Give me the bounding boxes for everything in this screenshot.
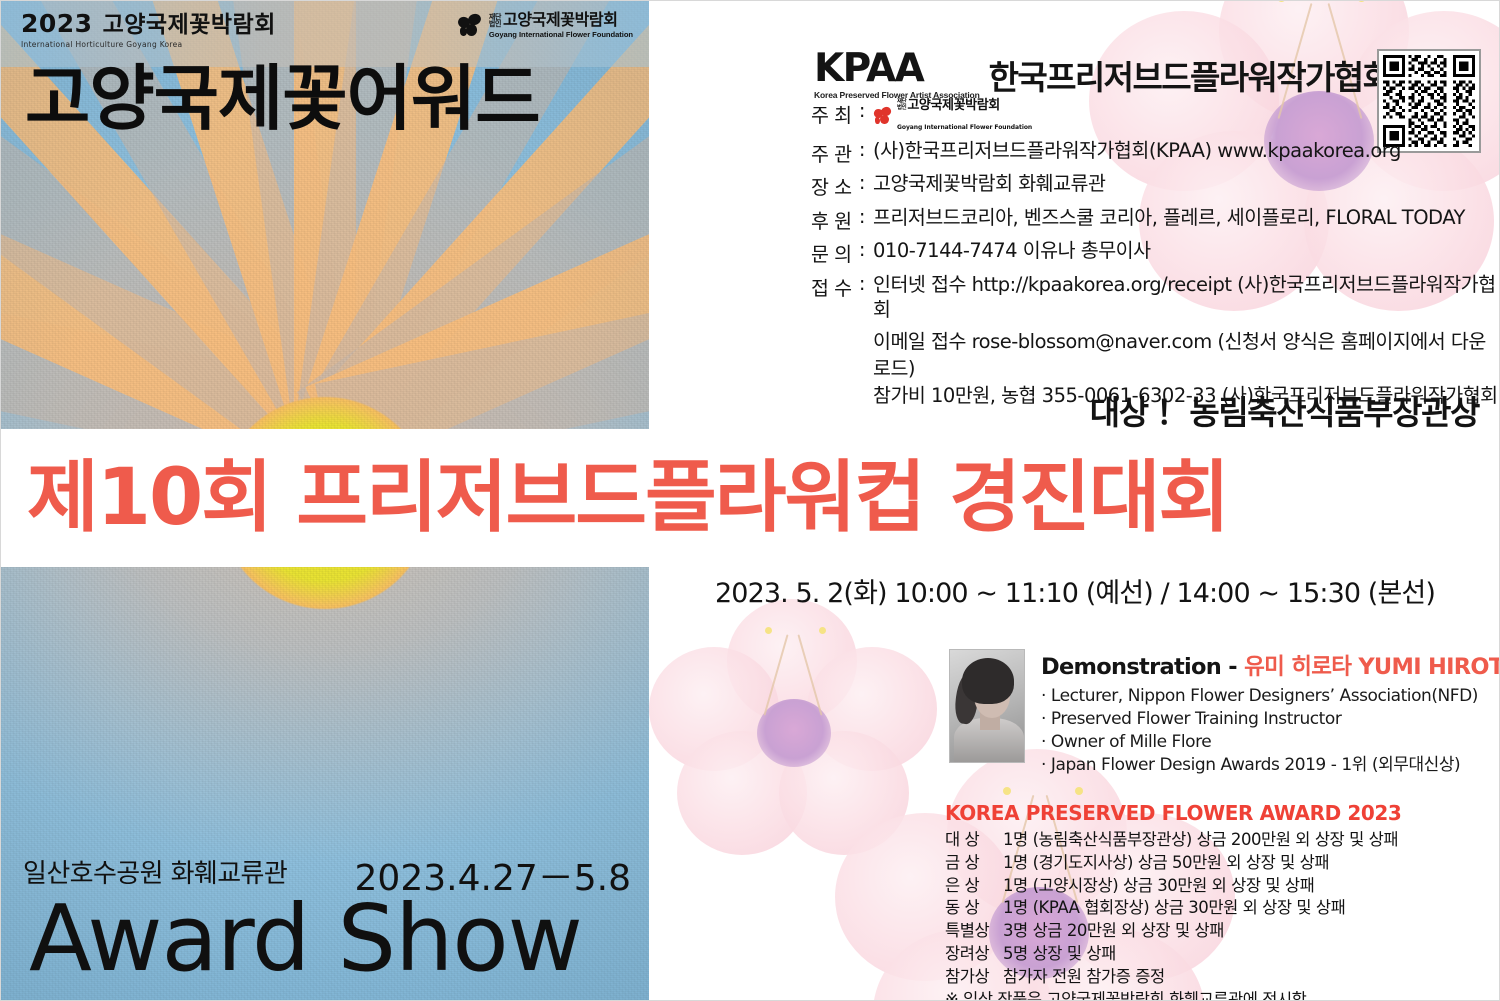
award-row: 대 상 1명 (농림축산식품부장관상) 상금 200만원 외 상장 및 상패 — [945, 829, 1500, 852]
expo-title-line: 2023 고양국제꽃박람회 — [21, 11, 276, 37]
info-label: 장 소 — [811, 171, 873, 200]
award-rank: 장려상 — [945, 943, 1003, 966]
foundation-name-ko-row: 재단 법인 고양국제꽃박람회 — [489, 13, 633, 30]
demonstrator-bullet: · Owner of Mille Flore — [1041, 731, 1500, 754]
expo-year: 2023 — [21, 11, 93, 36]
info-row-sponsor: 후 원 프리저브드코리아, 벤즈스쿨 코리아, 플레르, 세이플로리, FLOR… — [811, 205, 1500, 234]
award-row: 참가상 참가자 전원 참가증 증정 — [945, 966, 1500, 989]
foundation-name-ko: 고양국제꽃박람회 — [503, 13, 618, 30]
award-detail: 참가자 전원 참가증 증정 — [1003, 966, 1500, 989]
award-rank: 특별상 — [945, 920, 1003, 943]
award-row: 금 상 1명 (경기도지사상) 상금 50만원 외 상장 및 상패 — [945, 852, 1500, 875]
award-rank: 은 상 — [945, 875, 1003, 898]
demonstration-label: Demonstration — [1041, 654, 1221, 680]
competition-title: 제10회 프리저브드플라워컵 경진대회 — [27, 459, 1228, 537]
info-row-location: 장 소 고양국제꽃박람회 화훼교류관 — [811, 171, 1500, 200]
event-schedule: 2023. 5. 2(화) 10:00 ~ 11:10 (예선) / 14:00… — [649, 571, 1500, 610]
info-value: 고양국제꽃박람회 화훼교류관 — [873, 171, 1500, 197]
expo-name-ko: 고양국제꽃박람회 — [103, 14, 276, 37]
award-detail: 5명 상장 및 상패 — [1003, 943, 1500, 966]
main-title-band: 제10회 프리저브드플라워컵 경진대회 — [1, 429, 1500, 567]
awards-section: KOREA PRESERVED FLOWER AWARD 2023 대 상 1명… — [945, 801, 1500, 1001]
award-rank: 대 상 — [945, 829, 1003, 852]
info-label: 주 최 — [811, 99, 873, 128]
flower-mark-icon — [873, 107, 893, 125]
info-label: 접 수 — [811, 272, 873, 301]
demonstrator-photo — [949, 649, 1025, 763]
awards-exhibition-note: ※ 입상 작품은 고양국제꽃박람회 화훼교류관에 전시함 — [945, 989, 1500, 1001]
info-row-registration: 접 수 인터넷 접수 http://kpaakorea.org/receipt … — [811, 272, 1500, 323]
demonstration-dash: - — [1228, 654, 1237, 680]
host-name-en: Goyang International Flower Foundation — [897, 124, 1032, 131]
host-name-ko: 고양국제꽃박람회 — [907, 99, 999, 113]
demonstrator-details: Demonstration - 유미 히로타 YUMI HIROTA · Lec… — [1041, 649, 1500, 777]
info-label: 후 원 — [811, 205, 873, 234]
expo-branding: 2023 고양국제꽃박람회 International Horticulture… — [21, 11, 276, 49]
foundation-badge: 재단 법인 — [897, 100, 906, 112]
info-row-host: 주 최 재단 법인 고양국제꽃 — [811, 99, 1500, 133]
kpaa-name-ko: 한국프리저브드플라워작가협회 — [989, 61, 1392, 100]
grand-prize-headline: 대상！ 농림축산식품부장관상 — [1090, 386, 1479, 434]
host-foundation-logo: 재단 법인 고양국제꽃박람회 Goyang International Flow… — [873, 99, 1032, 133]
award-rank: 참가상 — [945, 966, 1003, 989]
demonstrator-bullet: · Lecturer, Nippon Flower Designers’ Ass… — [1041, 685, 1500, 708]
poster-award-show-title: Award Show — [29, 893, 582, 985]
blossom-watermark-midleft — [649, 599, 949, 889]
demonstrator-name-ko: 유미 히로타 — [1244, 654, 1351, 680]
kpaa-heading: KPAA Korea Preserved Flower Artist Assoc… — [814, 49, 1391, 100]
demonstration-title: Demonstration - 유미 히로타 YUMI HIROTA — [1041, 649, 1500, 681]
award-row: 은 상 1명 (고양시장상) 상금 30만원 외 상장 및 상패 — [945, 875, 1500, 898]
poster-screenshot: 2023 고양국제꽃박람회 International Horticulture… — [0, 0, 1500, 1001]
award-row: 특별상 3명 상금 20만원 외 상장 및 상패 — [945, 920, 1500, 943]
expo-name-en: International Horticulture Goyang Korea — [21, 40, 276, 49]
award-row: 동 상 1명 (KPAA 협회장상) 상금 30만원 외 상장 및 상패 — [945, 897, 1500, 920]
award-detail: 1명 (경기도지사상) 상금 50만원 외 상장 및 상패 — [1003, 852, 1500, 875]
award-detail: 1명 (고양시장상) 상금 30만원 외 상장 및 상패 — [1003, 875, 1500, 898]
award-detail: 1명 (농림축산식품부장관상) 상금 200만원 외 상장 및 상패 — [1003, 829, 1500, 852]
info-row-organizer: 주 관 (사)한국프리저브드플라워작가협회(KPAA) www.kpaakore… — [811, 138, 1500, 167]
kpaa-abbr-block: KPAA Korea Preserved Flower Artist Assoc… — [814, 49, 980, 100]
flower-mark-icon — [457, 14, 483, 38]
demonstrator-name-en: YUMI HIROTA — [1358, 654, 1500, 680]
info-value: 프리저브드코리아, 벤즈스쿨 코리아, 플레르, 세이플로리, FLORAL T… — [873, 205, 1500, 231]
demonstrator-bullet: · Preserved Flower Training Instructor — [1041, 708, 1500, 731]
event-info-list: 주 최 재단 법인 고양국제꽃 — [811, 99, 1500, 409]
foundation-logo: 재단 법인 고양국제꽃박람회 Goyang International Flow… — [457, 13, 633, 39]
award-detail: 1명 (KPAA 협회장상) 상금 30만원 외 상장 및 상패 — [1003, 897, 1500, 920]
info-row-contact: 문 의 010-7144-7474 이유나 총무이사 — [811, 238, 1500, 267]
demonstrator-bullet: · Japan Flower Design Awards 2019 - 1위 (… — [1041, 754, 1500, 777]
info-label: 문 의 — [811, 238, 873, 267]
foundation-logo-text: 재단 법인 고양국제꽃박람회 Goyang International Flow… — [489, 13, 633, 39]
award-detail: 3명 상금 20만원 외 상장 및 상패 — [1003, 920, 1500, 943]
registration-email-line: 이메일 접수 rose-blossom@naver.com (신청서 양식은 홈… — [873, 328, 1500, 383]
info-value: 재단 법인 고양국제꽃박람회 Goyang International Flow… — [873, 99, 1500, 133]
award-row: 장려상 5명 상장 및 상패 — [945, 943, 1500, 966]
kpaa-abbr: KPAA — [814, 49, 980, 88]
info-value: (사)한국프리저브드플라워작가협회(KPAA) www.kpaakorea.or… — [873, 138, 1500, 164]
poster-main-title: 고양국제꽃어워드 — [25, 63, 625, 134]
foundation-name-en: Goyang International Flower Foundation — [489, 31, 633, 39]
award-rank: 금 상 — [945, 852, 1003, 875]
demonstration-block: Demonstration - 유미 히로타 YUMI HIROTA · Lec… — [949, 649, 1497, 777]
foundation-badge: 재단 법인 — [489, 14, 501, 29]
info-value: 인터넷 접수 http://kpaakorea.org/receipt (사)한… — [873, 272, 1500, 323]
award-rank: 동 상 — [945, 897, 1003, 920]
info-value: 010-7144-7474 이유나 총무이사 — [873, 238, 1500, 264]
awards-heading: KOREA PRESERVED FLOWER AWARD 2023 — [945, 801, 1500, 825]
info-label: 주 관 — [811, 138, 873, 167]
